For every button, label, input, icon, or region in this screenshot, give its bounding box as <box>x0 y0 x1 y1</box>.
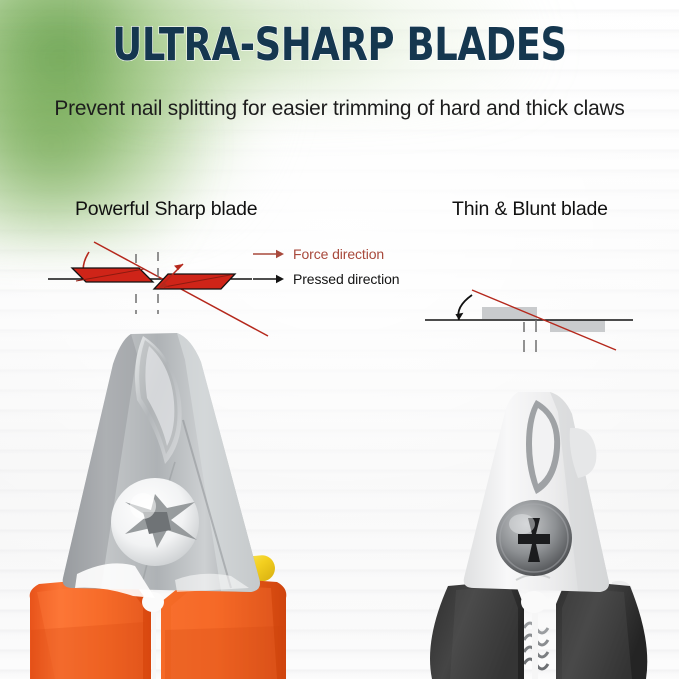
blunt-nail-clipper-photo <box>420 390 670 679</box>
sharp-nail-clipper-photo <box>25 330 325 679</box>
blade-block-left <box>72 268 153 282</box>
blunt-blade-angle-diagram <box>420 280 670 355</box>
legend-item-force: Force direction <box>252 243 399 265</box>
page-title: ULTRA-SHARP BLADES <box>61 22 618 67</box>
arrow-right-icon <box>252 273 286 285</box>
clipper-handle-left[interactable] <box>430 580 524 679</box>
clipper-handle-right[interactable] <box>556 580 647 679</box>
angle-arc-head <box>455 313 463 320</box>
arrow-right-icon <box>252 248 286 260</box>
page-subtitle: Prevent nail splitting for easier trimmi… <box>10 96 669 121</box>
right-section-label: Thin & Blunt blade <box>452 198 608 221</box>
pivot-screw <box>496 500 572 576</box>
legend-label-pressed: Pressed direction <box>293 271 399 287</box>
left-section-label: Powerful Sharp blade <box>75 198 257 221</box>
pivot-screw <box>111 478 199 566</box>
product-feature-banner: ULTRA-SHARP BLADES Prevent nail splittin… <box>0 0 679 679</box>
diagram-legend: Force direction Pressed direction <box>252 243 399 290</box>
legend-item-pressed: Pressed direction <box>252 268 399 290</box>
legend-label-force: Force direction <box>293 246 384 262</box>
